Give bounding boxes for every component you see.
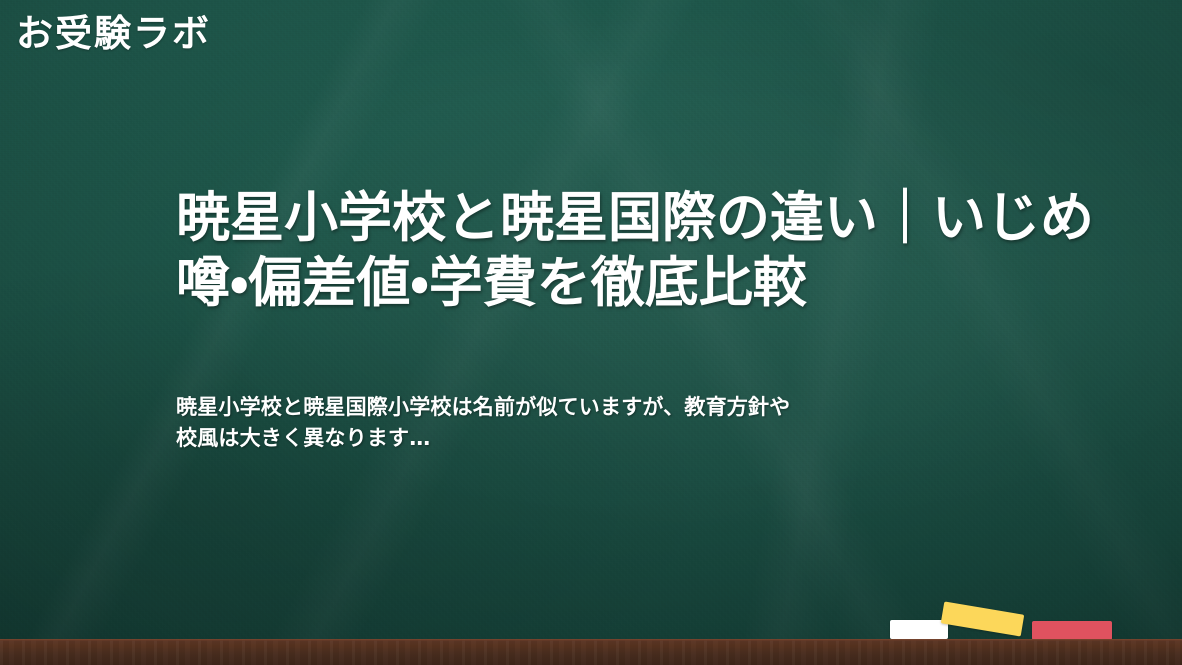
eyecatch-slide: お受験ラボ 暁星小学校と暁星国際の違い｜いじめ噂・偏差値・学費を徹底比較 暁星小… (0, 0, 1182, 665)
hero-subtitle-container: 暁星小学校と暁星国際小学校は名前が似ていますが、教育方針や校風は大きく異なります… (176, 392, 796, 454)
site-logo[interactable]: お受験ラボ (16, 11, 211, 57)
chalk-tray-top-edge (0, 639, 1182, 641)
red-chalk-icon (1032, 621, 1112, 640)
hero-title-container: 暁星小学校と暁星国際の違い｜いじめ噂・偏差値・学費を徹底比較 (176, 185, 1106, 315)
chalk-tray-ledge (0, 639, 1182, 665)
page-title: 暁星小学校と暁星国際の違い｜いじめ噂・偏差値・学費を徹底比較 (176, 185, 1106, 315)
white-chalk-icon (890, 620, 948, 639)
page-subtitle: 暁星小学校と暁星国際小学校は名前が似ていますが、教育方針や校風は大きく異なります… (176, 392, 796, 454)
chalkboard-surface (0, 0, 1182, 639)
